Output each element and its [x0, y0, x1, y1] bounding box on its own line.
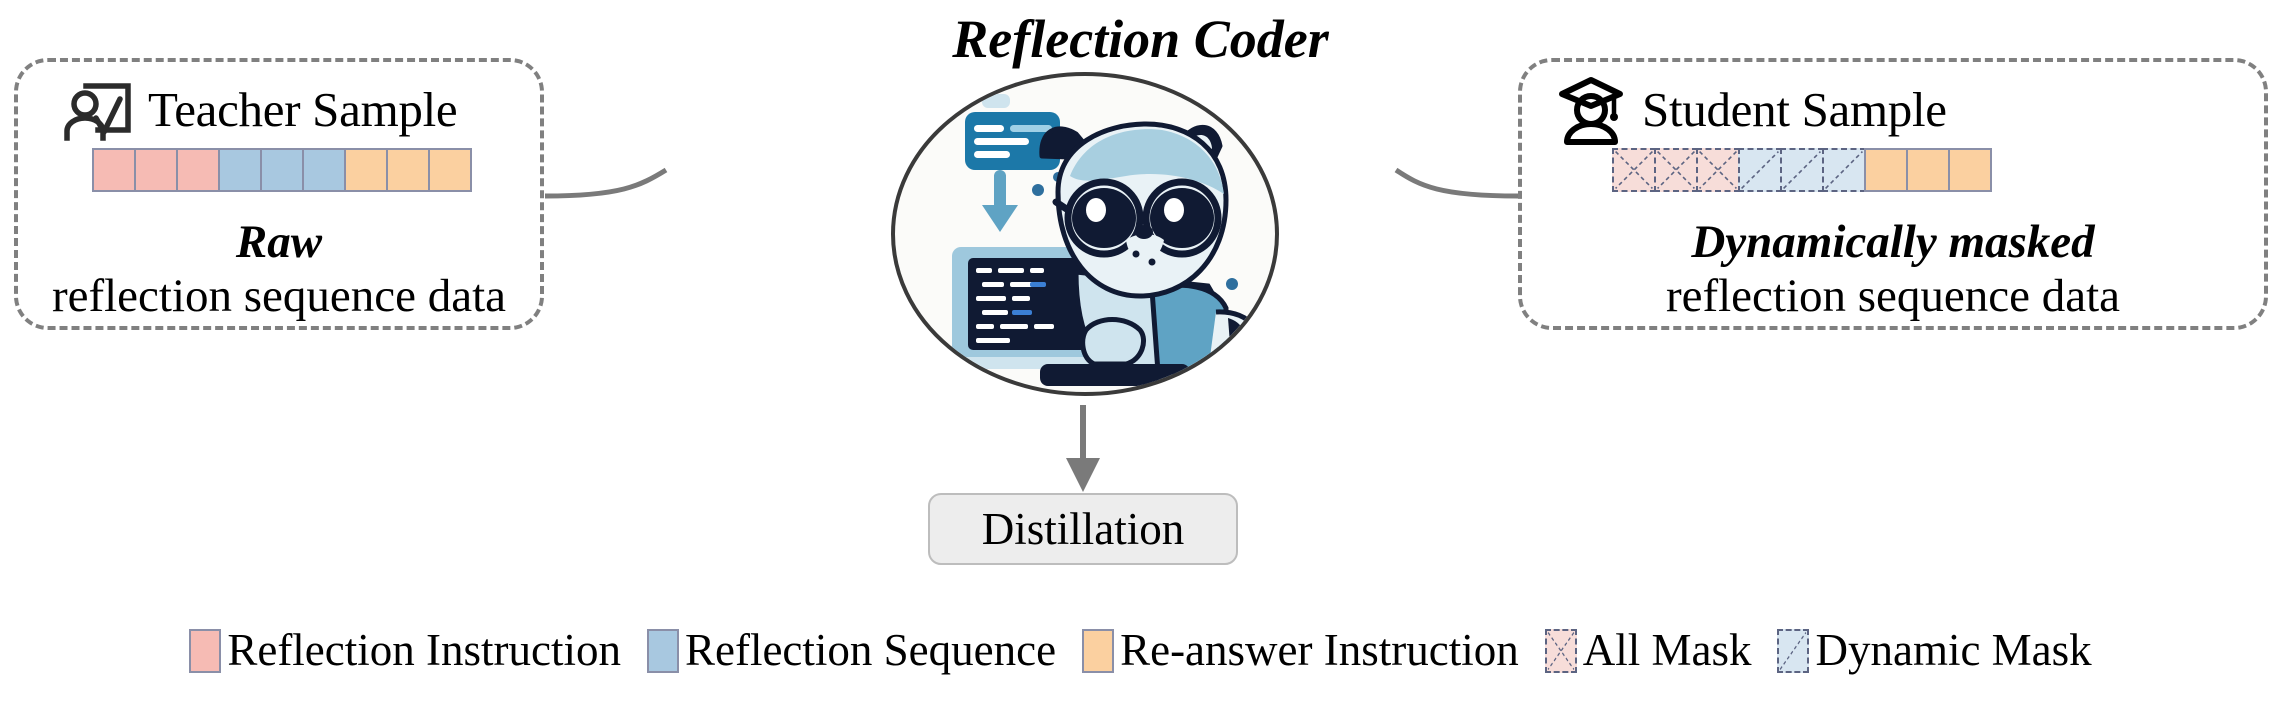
legend: Reflection InstructionReflection Sequenc…	[0, 628, 2281, 673]
legend-swatch	[1082, 629, 1114, 673]
legend-label: Re-answer Instruction	[1120, 628, 1519, 673]
teacher-token-strip	[92, 148, 470, 192]
teacher-token-cell	[386, 148, 430, 192]
teacher-token-cell	[428, 148, 472, 192]
all-mask-cross-icon	[1698, 150, 1738, 190]
student-token-cell	[1654, 148, 1698, 192]
dynamic-mask-slash-icon	[1824, 150, 1864, 190]
legend-label: Dynamic Mask	[1815, 628, 2091, 673]
legend-item: Reflection Instruction	[189, 628, 621, 673]
dynamic-mask-slash-icon	[1782, 150, 1822, 190]
student-token-cell	[1906, 148, 1950, 192]
legend-item: Dynamic Mask	[1777, 628, 2091, 673]
teacher-panel-header: Teacher Sample	[60, 72, 457, 146]
student-token-strip	[1612, 148, 1990, 192]
legend-item: Re-answer Instruction	[1082, 628, 1519, 673]
legend-swatch	[1777, 629, 1809, 673]
all-mask-cross-icon	[1656, 150, 1696, 190]
teacher-token-cell	[134, 148, 178, 192]
teacher-presenting-icon	[60, 72, 134, 146]
legend-item: All Mask	[1545, 628, 1752, 673]
teacher-panel-caption: Raw reflection sequence data	[14, 218, 544, 322]
student-token-cell	[1948, 148, 1992, 192]
teacher-token-cell	[176, 148, 220, 192]
student-token-cell	[1696, 148, 1740, 192]
reflection-coder-mascot	[890, 72, 1280, 396]
student-token-cell	[1864, 148, 1908, 192]
student-token-cell	[1822, 148, 1866, 192]
legend-swatch	[647, 629, 679, 673]
student-token-cell	[1738, 148, 1782, 192]
student-caption-sub: reflection sequence data	[1518, 272, 2268, 322]
dynamic-mask-slash-icon	[1779, 631, 1807, 671]
figure-canvas: Reflection Coder Teacher Sample Raw refl…	[0, 0, 2281, 709]
student-token-cell	[1612, 148, 1656, 192]
legend-label: Reflection Sequence	[685, 628, 1056, 673]
distillation-label: Distillation	[982, 507, 1185, 552]
student-panel-caption: Dynamically masked reflection sequence d…	[1518, 218, 2268, 322]
all-mask-cross-icon	[1614, 150, 1654, 190]
legend-item: Reflection Sequence	[647, 628, 1056, 673]
student-caption-emphasis: Dynamically masked	[1518, 218, 2268, 268]
teacher-token-cell	[260, 148, 304, 192]
legend-swatch	[189, 629, 221, 673]
teacher-caption-sub: reflection sequence data	[14, 272, 544, 322]
student-panel-title: Student Sample	[1642, 85, 1947, 134]
teacher-panel-title: Teacher Sample	[148, 85, 457, 134]
teacher-token-cell	[92, 148, 136, 192]
teacher-token-cell	[302, 148, 346, 192]
student-panel-header: Student Sample	[1554, 72, 1947, 146]
teacher-caption-emphasis: Raw	[14, 218, 544, 268]
legend-label: Reflection Instruction	[227, 628, 621, 673]
legend-label: All Mask	[1583, 628, 1752, 673]
all-mask-cross-icon	[1547, 631, 1575, 671]
distillation-box[interactable]: Distillation	[928, 493, 1238, 565]
teacher-token-cell	[344, 148, 388, 192]
legend-swatch	[1545, 629, 1577, 673]
teacher-token-cell	[218, 148, 262, 192]
student-token-cell	[1780, 148, 1824, 192]
dynamic-mask-slash-icon	[1740, 150, 1780, 190]
graduate-student-icon	[1554, 72, 1628, 146]
